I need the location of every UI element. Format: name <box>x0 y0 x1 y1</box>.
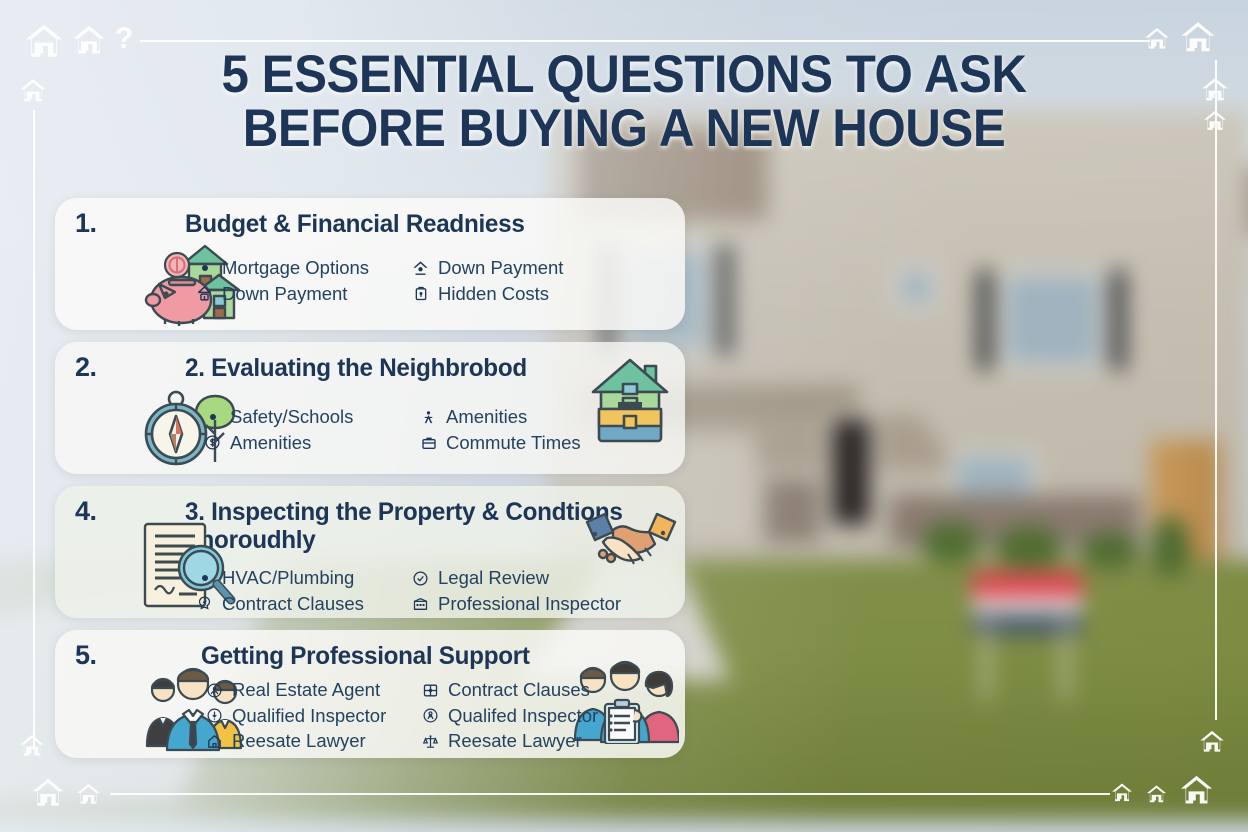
briefcase-icon <box>419 433 438 452</box>
list-item[interactable]: Down Payment <box>411 256 679 281</box>
title-line-1: 5 ESSENTIAL QUESTIONS TO ASK <box>221 45 1026 104</box>
question-card[interactable]: 2. 2. Evaluating the Neighbrobod <box>55 342 685 474</box>
inspector-person-icon <box>421 706 440 725</box>
list-item-label: Real Estate Agent <box>232 678 380 703</box>
handshake-illustration <box>583 510 679 574</box>
list-item[interactable]: Safety/Schools <box>203 405 413 430</box>
list-item-label: Safety/Schools <box>230 405 353 430</box>
list-item[interactable]: HVAC/Plumbing <box>195 566 405 591</box>
list-item-label: Reesate Lawyer <box>448 729 582 754</box>
list-item[interactable]: Reesate Lawyer <box>205 729 415 754</box>
list-item[interactable]: Qualified Inspector <box>205 704 415 729</box>
list-item[interactable]: Amenities <box>203 431 413 456</box>
dollar-circle-icon <box>203 433 222 452</box>
card-bullets: Mortgage Options Down Payment Down Payme… <box>195 256 679 306</box>
list-item-label: Reesate Lawyer <box>232 729 366 754</box>
list-item[interactable]: Real Estate Agent <box>205 678 415 703</box>
infographic-poster: ? <box>0 0 1248 832</box>
person-icon <box>419 408 438 427</box>
list-item-label: Qualified Inspector <box>232 704 386 729</box>
question-card[interactable]: 4. 3. Inspecting the Property & Condtion… <box>55 486 685 618</box>
clipboard-lock-icon <box>411 284 430 303</box>
list-item-label: Down Payment <box>222 282 347 307</box>
list-item[interactable]: Professional Inspector <box>411 592 679 617</box>
agent-badge-icon <box>205 681 224 700</box>
house-pin-icon <box>411 259 430 278</box>
card-number: 4. <box>75 496 97 527</box>
card-bullets: Safety/Schools Amenities Amenities <box>203 405 679 455</box>
bullet-dot-icon <box>195 569 214 588</box>
list-item[interactable]: Hidden Costs <box>411 282 679 307</box>
question-card[interactable]: 1. Budget & Financial Readniess <box>55 198 685 330</box>
list-item-label: Mortgage Options <box>222 256 369 281</box>
list-item-label: Hidden Costs <box>438 282 549 307</box>
list-item[interactable]: Amenities <box>419 405 679 430</box>
list-item[interactable]: Legal Review <box>411 566 679 591</box>
card-bullets: HVAC/Plumbing Legal Review Contract Clau… <box>195 566 679 616</box>
title-line-2: BEFORE BUYING A NEW HOUSE <box>44 102 1205 156</box>
question-card[interactable]: 5. Getting Professional Support <box>55 630 685 758</box>
list-item-label: Down Payment <box>438 256 563 281</box>
contract-seal-icon <box>195 594 214 613</box>
list-item-label: Legal Review <box>438 566 549 591</box>
card-bullets: Real Estate Agent Contract Clauses Quali… <box>205 678 679 754</box>
scales-icon <box>421 732 440 751</box>
question-card-list: 1. Budget & Financial Readniess <box>55 198 685 770</box>
card-number: 5. <box>75 640 97 671</box>
list-item-label: Contract Clauses <box>448 678 590 703</box>
list-item-label: Commute Times <box>446 431 581 456</box>
list-item-label: Amenities <box>230 431 311 456</box>
list-item-label: HVAC/Plumbing <box>222 566 354 591</box>
list-item[interactable]: Down Payment <box>195 282 405 307</box>
card-number: 2. <box>75 352 97 383</box>
list-item[interactable]: Mortgage Options <box>195 256 405 281</box>
clock-check-icon <box>411 569 430 588</box>
list-item-label: Professional Inspector <box>438 592 621 617</box>
list-item-label: Contract Clauses <box>222 592 364 617</box>
list-item[interactable]: Contract Clauses <box>421 678 679 703</box>
list-item-label: Qualifed Inspector <box>448 704 598 729</box>
home-outline-icon <box>205 732 224 751</box>
card-number: 1. <box>75 208 97 239</box>
bullet-dot-icon <box>195 259 214 278</box>
building-icon <box>411 594 430 613</box>
page-title: 5 ESSENTIAL QUESTIONS TO ASK BEFORE BUYI… <box>44 48 1205 156</box>
list-item[interactable]: Qualifed Inspector <box>421 704 679 729</box>
contract-grid-icon <box>421 681 440 700</box>
card-title: Budget & Financial Readniess <box>185 210 662 238</box>
list-item[interactable]: Contract Clauses <box>195 592 405 617</box>
list-item-label: Amenities <box>446 405 527 430</box>
list-item[interactable]: Reesate Lawyer <box>421 729 679 754</box>
house-chart-icon <box>195 284 214 303</box>
bullet-dot-icon <box>203 408 222 427</box>
list-item[interactable]: Commute Times <box>419 431 679 456</box>
inspector-circle-icon <box>205 706 224 725</box>
